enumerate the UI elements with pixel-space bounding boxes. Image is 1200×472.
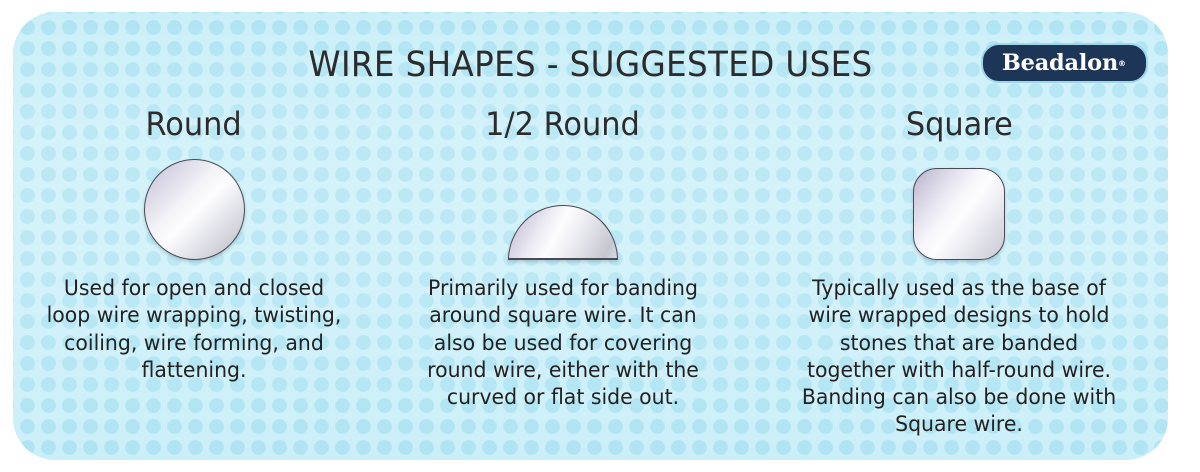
beadalon-logo-text: Beadalon: [1002, 52, 1118, 74]
shape-columns: Round Used for open and closed loop wire…: [13, 108, 1168, 439]
column-half-round-heading: 1/2 Round: [485, 108, 640, 140]
half-round-wire-shape-icon: [508, 205, 618, 260]
column-round: Round Used for open and closed loop wire…: [13, 108, 375, 384]
page-title: WIRE SHAPES - SUGGESTED USES: [53, 45, 1127, 85]
column-half-round-description: Primarily used for banding around square…: [411, 275, 715, 411]
column-half-round: 1/2 Round Primarily used for banding aro…: [375, 108, 750, 411]
beadalon-logo: Beadalon®: [981, 43, 1148, 83]
column-round-shape-slot: [144, 150, 245, 260]
infographic-card: WIRE SHAPES - SUGGESTED USES Beadalon® R…: [13, 12, 1168, 460]
column-half-round-shape-slot: [508, 150, 618, 260]
column-round-description: Used for open and closed loop wire wrapp…: [43, 275, 345, 384]
column-square-shape-slot: [913, 150, 1005, 260]
column-square-description: Typically used as the base of wire wrapp…: [793, 275, 1126, 439]
column-square: Square Typically used as the base of wir…: [750, 108, 1168, 439]
column-round-heading: Round: [146, 108, 242, 140]
round-wire-shape-icon: [144, 159, 245, 260]
infographic-page: WIRE SHAPES - SUGGESTED USES Beadalon® R…: [0, 0, 1200, 472]
registered-trademark-icon: ®: [1118, 59, 1126, 68]
column-square-heading: Square: [905, 108, 1012, 140]
square-wire-shape-icon: [913, 168, 1005, 260]
